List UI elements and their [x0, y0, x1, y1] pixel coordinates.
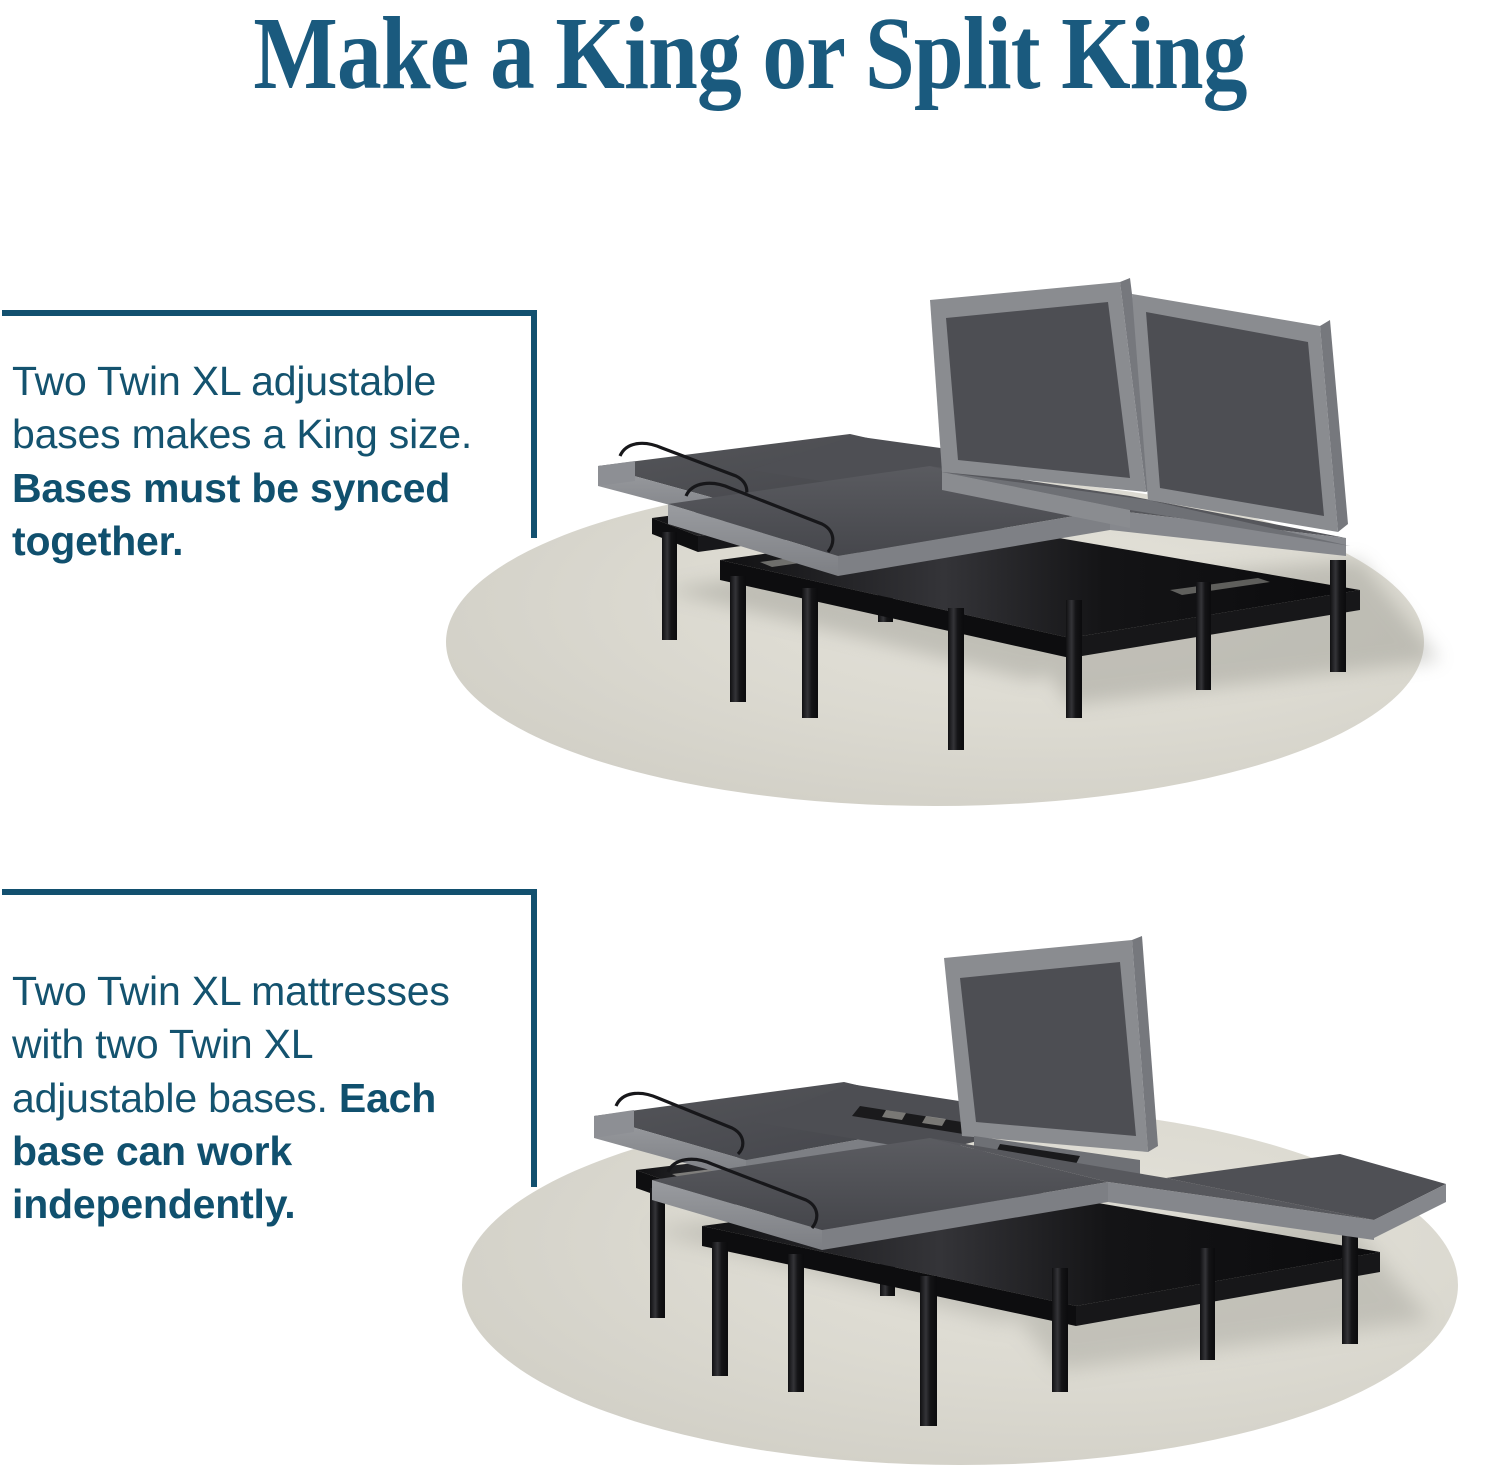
illustration-king — [430, 260, 1500, 820]
illustration-split-king — [440, 930, 1500, 1476]
copy-king-bold: Bases must be synced together. — [12, 465, 450, 564]
head-panel-raised-split-king — [944, 936, 1158, 1174]
adjustable-bases-king-svg — [430, 260, 1500, 820]
adjustable-bases-split-king-svg — [440, 930, 1500, 1476]
infographic-page: Make a King or Split King Two Twin XL ad… — [0, 0, 1500, 1476]
head-panel-right-raised-king — [1132, 294, 1348, 532]
copy-king-plain: Two Twin XL adjustable bases makes a Kin… — [12, 358, 472, 457]
bracket-split-king-horizontal — [2, 889, 537, 895]
copy-split-king: Two Twin XL mattresses with two Twin XL … — [12, 965, 482, 1231]
page-title: Make a King or Split King — [105, 0, 1395, 113]
head-panel-left-raised-king — [930, 278, 1156, 492]
copy-king: Two Twin XL adjustable bases makes a Kin… — [12, 355, 482, 568]
